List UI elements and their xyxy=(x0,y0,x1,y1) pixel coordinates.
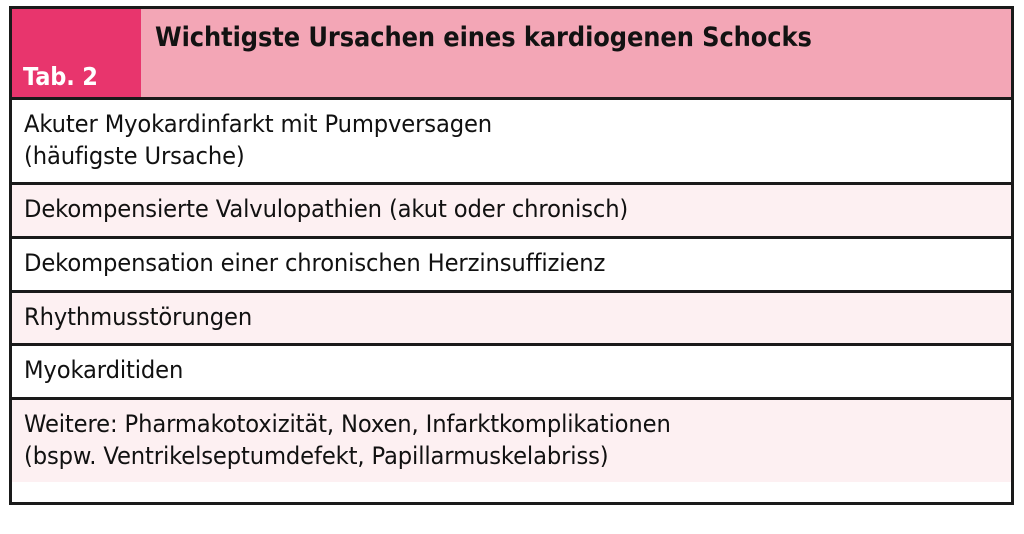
table-row: Akuter Myokardinfarkt mit Pumpversagen (… xyxy=(12,100,1011,185)
table-row: Dekompensierte Valvulopathien (akut oder… xyxy=(12,185,1011,239)
table-cell-line: Myokarditiden xyxy=(24,355,957,387)
table-cell-line: Weitere: Pharmakotoxizität, Noxen, Infar… xyxy=(24,409,957,441)
table-body: Akuter Myokardinfarkt mit Pumpversagen (… xyxy=(12,100,1011,482)
table-row: Dekompensation einer chronischen Herzins… xyxy=(12,239,1011,293)
table-cell-line: Dekompensation einer chronischen Herzins… xyxy=(24,248,957,280)
table-number-badge: Tab. 2 xyxy=(12,9,141,97)
table-cell-line: (bspw. Ventrikelseptumdefekt, Papillarmu… xyxy=(24,441,957,473)
table-cell-line: Rhythmusstörungen xyxy=(24,302,957,334)
table-cell-line: Akuter Myokardinfarkt mit Pumpversagen xyxy=(24,109,957,141)
table-figure: Tab. 2 Wichtigste Ursachen eines kardiog… xyxy=(9,6,1014,505)
table-cell-line: Dekompensierte Valvulopathien (akut oder… xyxy=(24,194,957,226)
table-row: Rhythmusstörungen xyxy=(12,293,1011,347)
table-row: Myokarditiden xyxy=(12,346,1011,400)
table-number-label: Tab. 2 xyxy=(23,64,98,89)
table-title: Wichtigste Ursachen eines kardiogenen Sc… xyxy=(155,24,812,52)
table-title-container: Wichtigste Ursachen eines kardiogenen Sc… xyxy=(141,9,1011,97)
table-row: Weitere: Pharmakotoxizität, Noxen, Infar… xyxy=(12,400,1011,482)
table-cell-line: (häufigste Ursache) xyxy=(24,141,957,173)
table-header: Tab. 2 Wichtigste Ursachen eines kardiog… xyxy=(12,9,1011,100)
